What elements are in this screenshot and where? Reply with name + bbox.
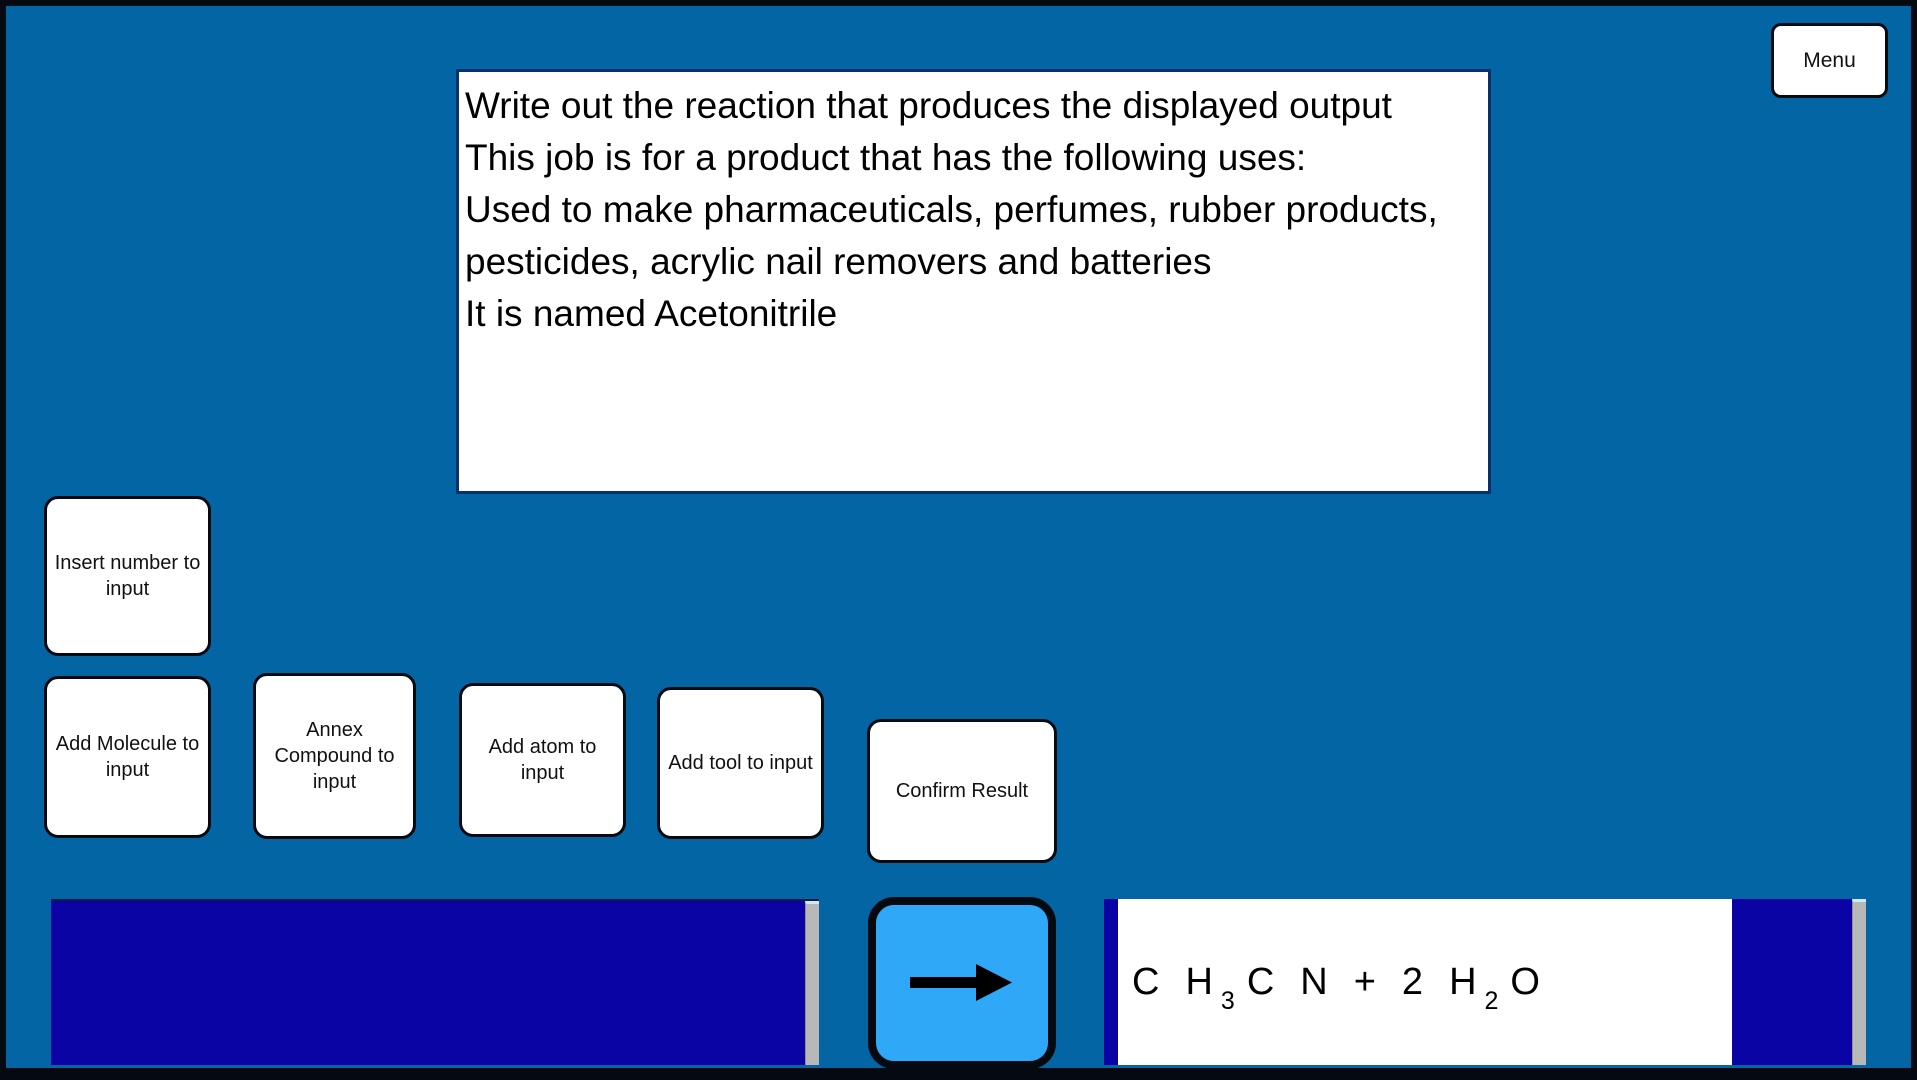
add-atom-button-label: Add atom to input xyxy=(468,734,617,786)
formula-symbol: H xyxy=(1449,963,1476,1001)
insert-number-button[interactable]: Insert number to input xyxy=(44,496,211,656)
add-tool-button-label: Add tool to input xyxy=(668,750,813,776)
reaction-input-panel[interactable] xyxy=(51,899,819,1065)
reaction-input-scrollbar[interactable] xyxy=(805,901,819,1065)
formula-symbol: H xyxy=(1185,963,1212,1001)
formula-subscript: 3 xyxy=(1221,989,1235,1014)
formula-symbol: O xyxy=(1510,963,1540,1001)
formula-symbol: C xyxy=(1247,963,1274,1001)
app-root: Menu Write out the reaction that produce… xyxy=(0,0,1917,1080)
instruction-line-2: This job is for a product that has the f… xyxy=(465,132,1482,184)
annex-compound-button[interactable]: Annex Compound to input xyxy=(253,673,416,839)
add-molecule-button[interactable]: Add Molecule to input xyxy=(44,676,211,838)
formula-symbol: 2 xyxy=(1402,963,1423,1001)
instruction-line-4: It is named Acetonitrile xyxy=(465,288,1482,340)
formula-symbol: C xyxy=(1132,963,1159,1001)
menu-button[interactable]: Menu xyxy=(1771,23,1888,98)
submit-arrow-button[interactable] xyxy=(868,897,1056,1069)
reaction-output-panel: CH3CN+2H2O xyxy=(1104,899,1866,1065)
instruction-line-1: Write out the reaction that produces the… xyxy=(465,80,1482,132)
confirm-result-button[interactable]: Confirm Result xyxy=(867,719,1057,863)
add-atom-button[interactable]: Add atom to input xyxy=(459,683,626,837)
add-molecule-button-label: Add Molecule to input xyxy=(53,731,202,783)
formula-symbol: + xyxy=(1354,963,1376,1001)
annex-compound-button-label: Annex Compound to input xyxy=(262,717,407,795)
formula-subscript: 2 xyxy=(1485,989,1499,1014)
add-tool-button[interactable]: Add tool to input xyxy=(657,687,824,839)
formula-symbol: N xyxy=(1300,963,1327,1001)
output-formula: CH3CN+2H2O xyxy=(1132,963,1566,1001)
instruction-line-3: Used to make pharmaceuticals, perfumes, … xyxy=(465,184,1482,288)
reaction-output-scrollbar[interactable] xyxy=(1852,899,1866,1065)
output-formula-box: CH3CN+2H2O xyxy=(1118,899,1732,1065)
confirm-result-button-label: Confirm Result xyxy=(896,778,1028,804)
menu-button-label: Menu xyxy=(1803,49,1856,73)
right-arrow-icon xyxy=(908,956,1016,1010)
instruction-panel: Write out the reaction that produces the… xyxy=(456,69,1491,494)
insert-number-button-label: Insert number to input xyxy=(53,550,202,602)
